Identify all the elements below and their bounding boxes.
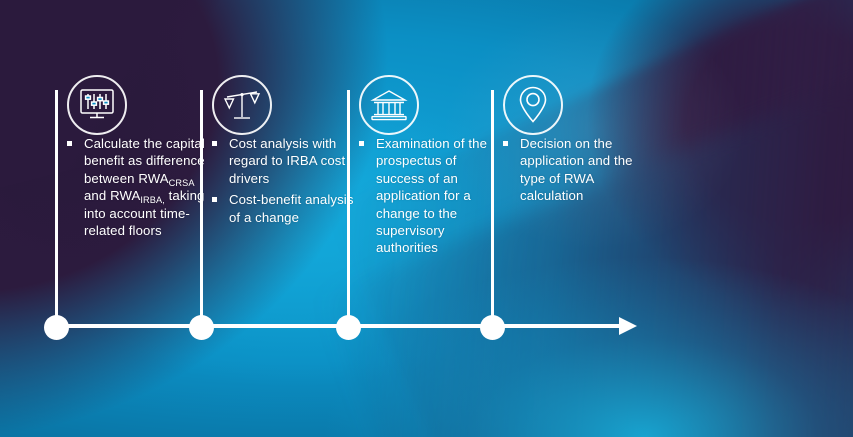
stage-2-node[interactable] [189, 315, 214, 340]
scales-balance-icon [212, 75, 272, 135]
stage-3-bullet-1: Examination of the prospectus of success… [356, 135, 504, 257]
timeline-stage-3[interactable]: Examination of the prospectus of success… [347, 0, 497, 437]
stage-2-bullet-2: Cost-benefit analysis of a change [209, 191, 357, 226]
stage-1-bullet-1: Calculate the capital benefit as differe… [64, 135, 212, 239]
subscript-text: IRBA, [140, 195, 165, 205]
stage-2-connector [200, 90, 203, 327]
stage-4-connector [491, 90, 494, 327]
timeline-stage-2[interactable]: Cost analysis with regard to IRBA cost d… [200, 0, 350, 437]
stage-2-bullet-list: Cost analysis with regard to IRBA cost d… [209, 135, 357, 230]
location-pin-icon [503, 75, 563, 135]
stage-3-node[interactable] [336, 315, 361, 340]
stage-4-bullet-1: Decision on the application and the type… [500, 135, 648, 205]
timeline-stage-1[interactable]: Calculate the capital benefit as differe… [55, 0, 205, 437]
stage-4-node[interactable] [480, 315, 505, 340]
stage-3-bullet-list: Examination of the prospectus of success… [356, 135, 504, 261]
stage-1-connector [55, 90, 58, 327]
subscript-text: CRSA [169, 178, 195, 188]
timeline-stage-4[interactable]: Decision on the application and the type… [491, 0, 641, 437]
stage-1-bullet-list: Calculate the capital benefit as differe… [64, 135, 212, 243]
stage-1-node[interactable] [44, 315, 69, 340]
stage-4-bullet-list: Decision on the application and the type… [500, 135, 648, 209]
slide-canvas: Calculate the capital benefit as differe… [0, 0, 853, 437]
stage-2-bullet-1: Cost analysis with regard to IRBA cost d… [209, 135, 357, 187]
bank-building-icon [359, 75, 419, 135]
monitor-sliders-icon [67, 75, 127, 135]
stage-3-connector [347, 90, 350, 327]
